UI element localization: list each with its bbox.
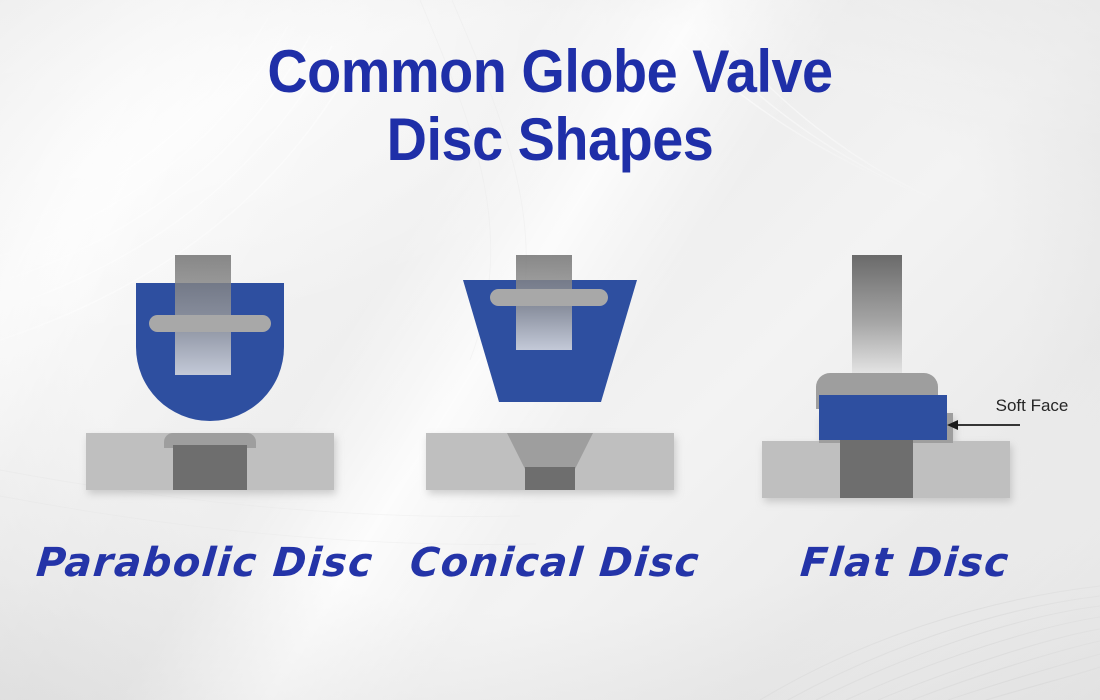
figure-conical-disc — [380, 255, 720, 525]
caption-parabolic-disc: Parabolic Disc — [23, 540, 387, 586]
soft-face-label: Soft Face — [996, 396, 1069, 416]
caption-flat-disc: Flat Disc — [723, 540, 1087, 586]
seat-assembly-conical — [426, 433, 674, 490]
bore — [525, 467, 575, 490]
seat-assembly-parabolic — [86, 433, 334, 490]
caption-conical-disc: Conical Disc — [373, 540, 737, 586]
seal-bar — [149, 315, 271, 332]
figure-parabolic-disc — [40, 255, 380, 525]
stem — [852, 255, 902, 377]
soft-face-arrow — [947, 420, 1020, 430]
poster-canvas: Common Globe Valve Disc Shapes — [0, 0, 1100, 700]
seal-bar — [490, 289, 608, 306]
page-title: Common Globe Valve Disc Shapes — [39, 38, 1062, 174]
soft-face — [819, 395, 947, 440]
figure-flat-disc — [730, 255, 1070, 525]
bore — [173, 445, 247, 490]
